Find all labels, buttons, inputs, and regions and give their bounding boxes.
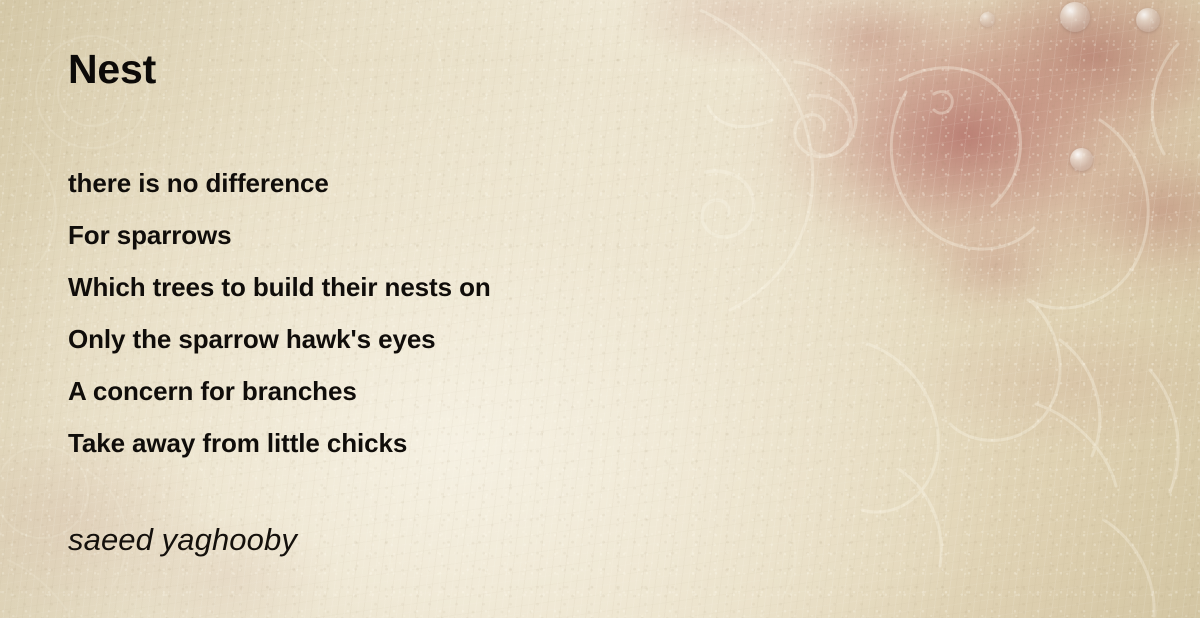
poem-line: there is no difference <box>68 157 491 209</box>
poem-card: Nest there is no difference For sparrows… <box>0 0 1200 618</box>
poem-line: Which trees to build their nests on <box>68 261 491 313</box>
poem-line: Take away from little chicks <box>68 417 491 469</box>
poem-title: Nest <box>68 49 156 90</box>
poem-body: there is no difference For sparrows Whic… <box>68 157 491 469</box>
poem-line: A concern for branches <box>68 365 491 417</box>
poem-author: saeed yaghooby <box>68 521 297 558</box>
poem-line: For sparrows <box>68 209 491 261</box>
pearl-bead <box>1136 8 1160 32</box>
poem-text-block: Nest there is no difference For sparrows… <box>68 0 828 618</box>
pearl-bead <box>1070 148 1093 171</box>
pearl-bead <box>1060 2 1090 32</box>
poem-line: Only the sparrow hawk's eyes <box>68 313 491 365</box>
pearl-bead <box>980 12 995 27</box>
